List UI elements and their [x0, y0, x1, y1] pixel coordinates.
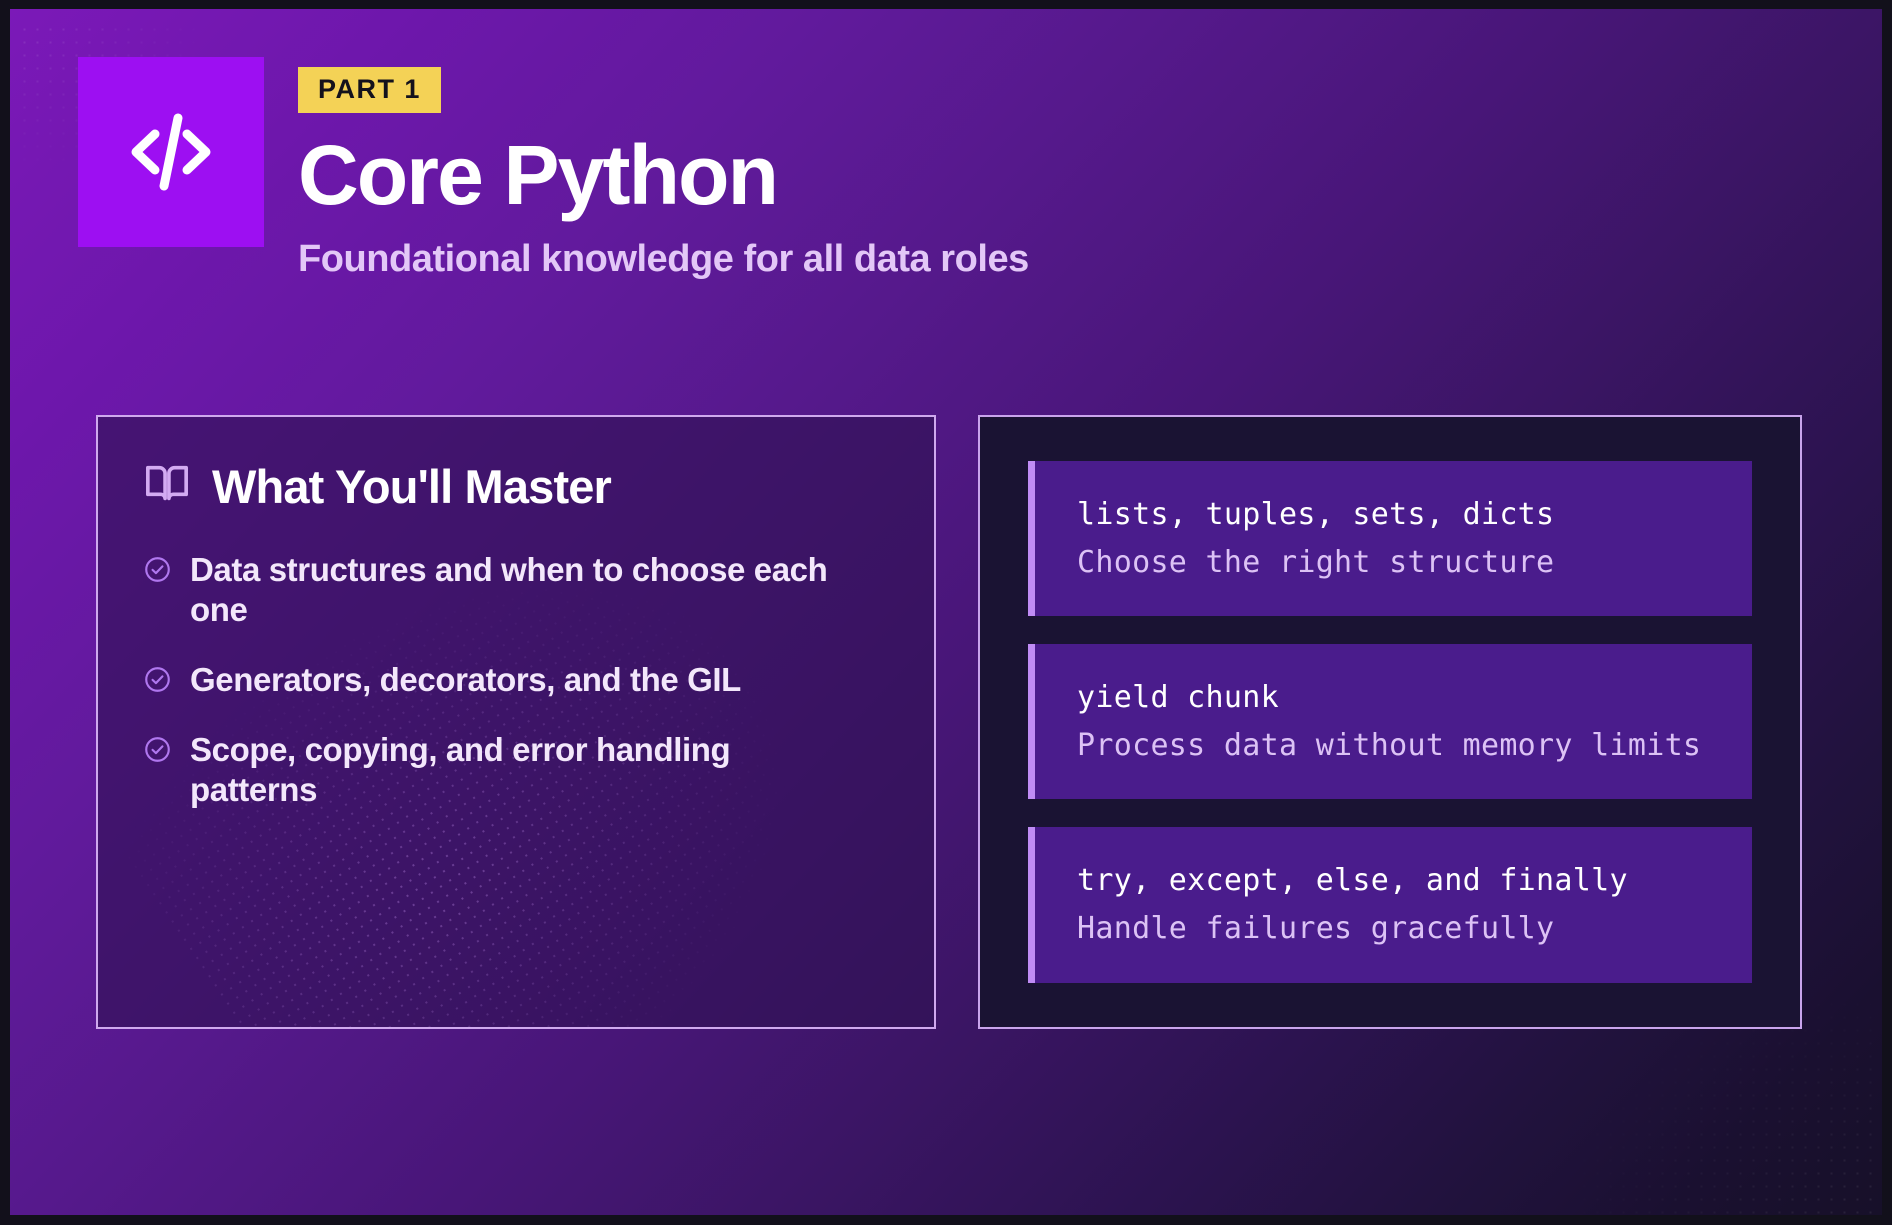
- card-title: What You'll Master: [212, 463, 611, 510]
- slide-canvas: PART 1 Core Python Foundational knowledg…: [10, 9, 1882, 1215]
- check-circle-icon: [144, 736, 171, 768]
- code-snippet: try, except, else, and finally: [1077, 861, 1718, 901]
- code-examples-panel: lists, tuples, sets, dicts Choose the ri…: [978, 415, 1802, 1029]
- list-item-label: Data structures and when to choose each …: [190, 550, 830, 630]
- open-book-icon: [144, 461, 190, 512]
- check-circle-icon: [144, 666, 171, 698]
- page-subtitle: Foundational knowledge for all data role…: [298, 238, 1029, 281]
- code-brackets-icon: [123, 104, 219, 200]
- code-snippet: yield chunk: [1077, 678, 1718, 718]
- card-header: What You'll Master: [144, 461, 888, 512]
- list-item: Scope, copying, and error handling patte…: [144, 730, 888, 810]
- code-description: Handle failures gracefully: [1077, 909, 1718, 949]
- mastery-list: Data structures and when to choose each …: [144, 550, 888, 810]
- header-text-group: PART 1 Core Python Foundational knowledg…: [298, 57, 1029, 281]
- logo-box: [78, 57, 264, 247]
- slide-frame: PART 1 Core Python Foundational knowledg…: [0, 0, 1892, 1225]
- code-block: yield chunk Process data without memory …: [1028, 644, 1752, 799]
- code-snippet: lists, tuples, sets, dicts: [1077, 495, 1718, 535]
- list-item: Generators, decorators, and the GIL: [144, 660, 888, 700]
- part-badge: PART 1: [298, 67, 441, 113]
- slide-header: PART 1 Core Python Foundational knowledg…: [78, 57, 1029, 281]
- slide-body: What You'll Master Data structures and w…: [96, 415, 1802, 1029]
- code-block: lists, tuples, sets, dicts Choose the ri…: [1028, 461, 1752, 616]
- code-description: Process data without memory limits: [1077, 726, 1718, 766]
- code-block: try, except, else, and finally Handle fa…: [1028, 827, 1752, 982]
- page-title: Core Python: [298, 134, 1029, 216]
- list-item-label: Generators, decorators, and the GIL: [190, 660, 741, 700]
- list-item: Data structures and when to choose each …: [144, 550, 888, 630]
- list-item-label: Scope, copying, and error handling patte…: [190, 730, 830, 810]
- code-description: Choose the right structure: [1077, 543, 1718, 583]
- what-youll-master-card: What You'll Master Data structures and w…: [96, 415, 936, 1029]
- check-circle-icon: [144, 556, 171, 588]
